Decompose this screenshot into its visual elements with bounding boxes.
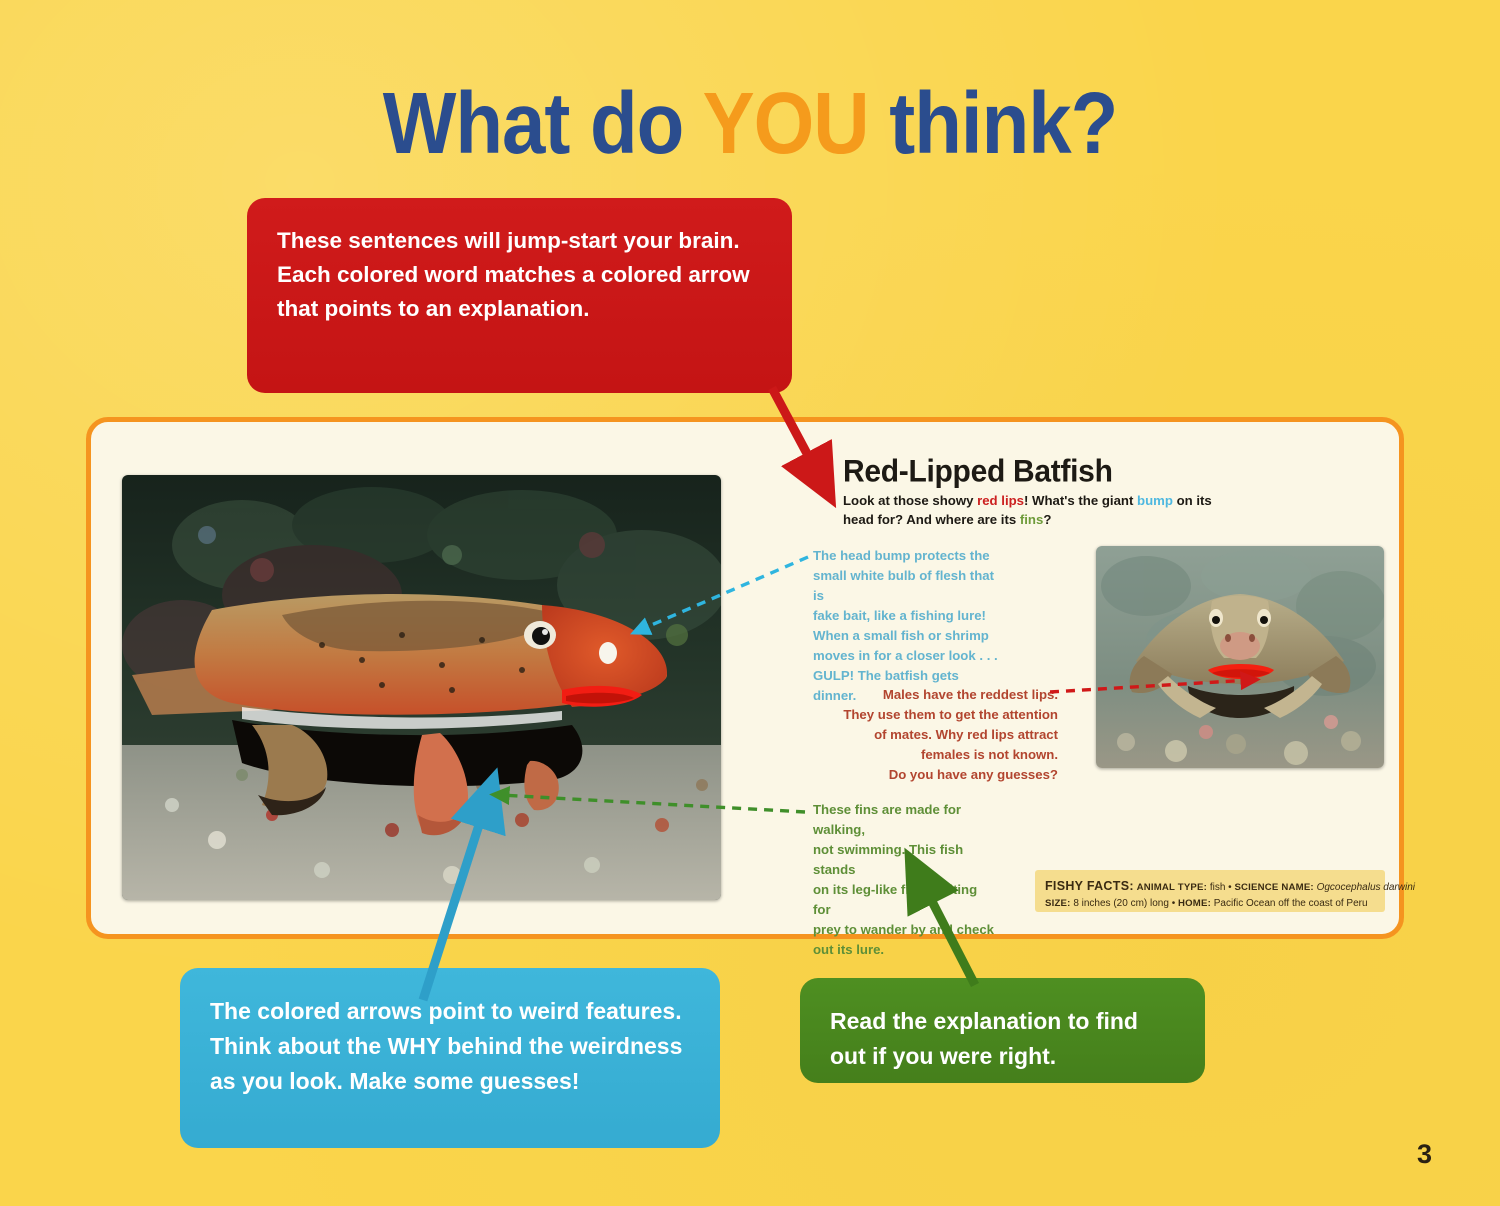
animal-type-value: fish (1210, 882, 1226, 893)
intro-segment-b: ! What's the giant (1024, 493, 1137, 508)
intro-keyword-fins: fins (1020, 512, 1043, 527)
explanation-lips-line2: They use them to get the attention (843, 705, 1058, 725)
fishy-facts-sep-2: • (1172, 898, 1176, 909)
photo-batfish-front-image (1096, 546, 1384, 768)
callout-red-line1: These sentences will jump-start your bra… (277, 224, 762, 258)
callout-green-line2: out if you were right. (830, 1039, 1175, 1074)
book-page: What do YOU think? These sentences will … (0, 0, 1500, 1206)
intro-keyword-red-lips: red lips (977, 493, 1024, 508)
callout-red-line2: Each colored word matches a colored arro… (277, 258, 762, 292)
callout-blue-instructions: The colored arrows point to weird featur… (180, 968, 720, 1148)
photo-batfish-side-image (122, 475, 721, 900)
intro-segment-d: ? (1043, 512, 1051, 527)
explanation-fins-line4: prey to wander by and check (813, 920, 998, 940)
callout-blue-line3: as you look. Make some guesses! (210, 1064, 690, 1099)
photo-batfish-front (1096, 546, 1384, 768)
explanation-bump-line4: When a small fish or shrimp (813, 626, 998, 646)
title-text-part1: What do (383, 74, 703, 173)
title-text-you: YOU (703, 74, 869, 173)
photo-batfish-side (122, 475, 721, 900)
explanation-fins: These fins are made for walking, not swi… (813, 800, 998, 961)
intro-keyword-bump: bump (1137, 493, 1173, 508)
fishy-facts-line2: SIZE: 8 inches (20 cm) long • HOME: Paci… (1045, 896, 1375, 912)
explanation-lips-line4: females is not known. (843, 745, 1058, 765)
explanation-fins-line3: on its leg-like fins, waiting for (813, 880, 998, 920)
intro-segment-a: Look at those showy (843, 493, 977, 508)
explanation-lips-line3: of mates. Why red lips attract (843, 725, 1058, 745)
fishy-facts-title: FISHY FACTS: (1045, 879, 1134, 893)
fishy-facts-box: FISHY FACTS: ANIMAL TYPE: fish • SCIENCE… (1035, 870, 1385, 912)
explanation-lips: Males have the reddest lips. They use th… (843, 685, 1058, 785)
explanation-fins-line5: out its lure. (813, 940, 998, 960)
size-label: SIZE: (1045, 898, 1071, 909)
callout-red-instructions: These sentences will jump-start your bra… (247, 198, 792, 393)
explanation-bump: The head bump protects the small white b… (813, 546, 998, 707)
explanation-lips-line1: Males have the reddest lips. (843, 685, 1058, 705)
callout-red-line3: that points to an explanation. (277, 292, 762, 326)
fishy-facts-sep-1: • (1228, 882, 1232, 893)
explanation-lips-line5: Do you have any guesses? (843, 765, 1058, 785)
species-heading: Red-Lipped Batfish (843, 454, 1113, 490)
callout-green-line1: Read the explanation to find (830, 1004, 1175, 1039)
page-number: 3 (1417, 1139, 1432, 1170)
callout-green-instructions: Read the explanation to find out if you … (800, 978, 1205, 1083)
explanation-fins-line1: These fins are made for walking, (813, 800, 998, 840)
explanation-fins-line2: not swimming. This fish stands (813, 840, 998, 880)
explanation-bump-line1: The head bump protects the (813, 546, 998, 566)
science-name-value: Ogcocephalus darwini (1317, 882, 1415, 893)
title-text-part2: think? (869, 74, 1118, 173)
home-label: HOME: (1178, 898, 1211, 909)
page-title: What do YOU think? (0, 73, 1500, 175)
explanation-bump-line5: moves in for a closer look . . . (813, 646, 998, 666)
species-intro-text: Look at those showy red lips! What's the… (843, 492, 1223, 529)
fishy-facts-line1: FISHY FACTS: ANIMAL TYPE: fish • SCIENCE… (1045, 876, 1375, 896)
size-value: 8 inches (20 cm) long (1073, 898, 1169, 909)
content-panel: Red-Lipped Batfish Look at those showy r… (86, 417, 1404, 939)
explanation-bump-line2: small white bulb of flesh that is (813, 566, 998, 606)
animal-type-label: ANIMAL TYPE: (1137, 882, 1207, 893)
home-value: Pacific Ocean off the coast of Peru (1214, 898, 1368, 909)
callout-blue-line1: The colored arrows point to weird featur… (210, 994, 690, 1029)
science-name-label: SCIENCE NAME: (1234, 882, 1313, 893)
explanation-bump-line3: fake bait, like a fishing lure! (813, 606, 998, 626)
callout-blue-line2: Think about the WHY behind the weirdness (210, 1029, 690, 1064)
